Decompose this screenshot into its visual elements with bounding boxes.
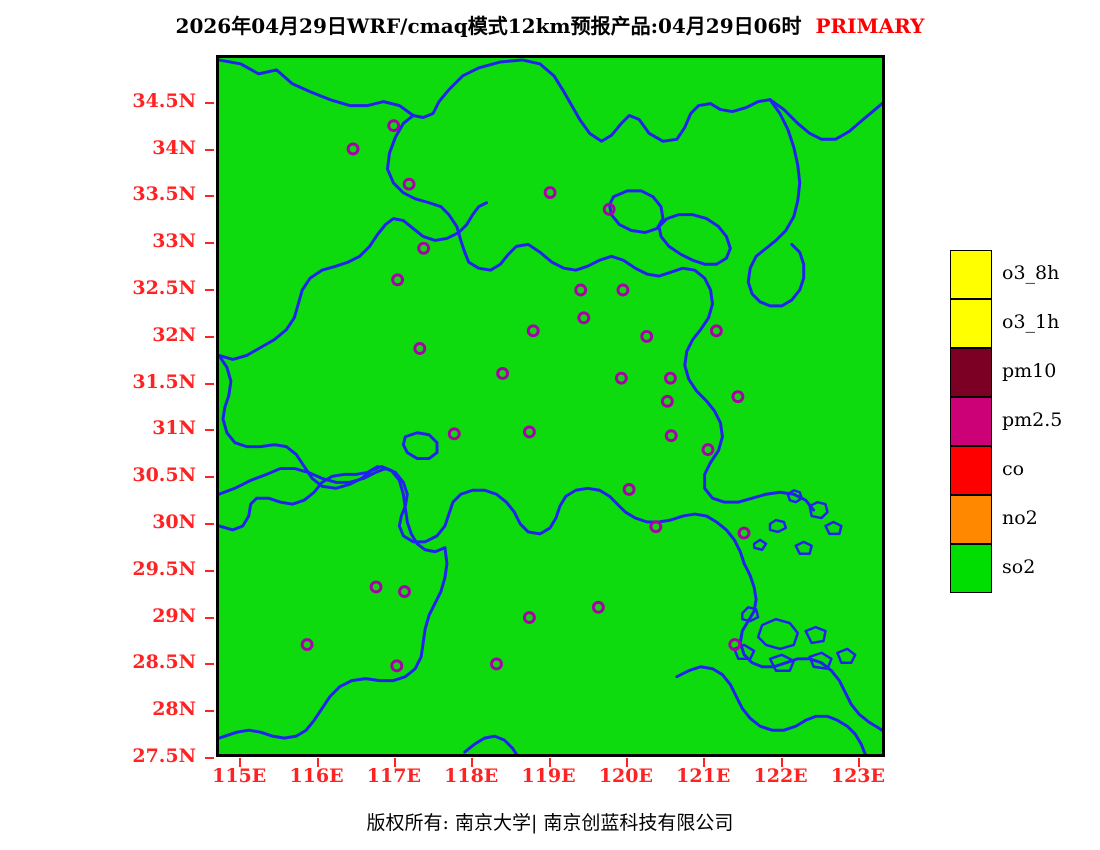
legend-label: so2 — [1002, 556, 1035, 578]
station-marker[interactable] — [730, 640, 740, 650]
longitude-tick-label: 120E — [586, 765, 666, 787]
legend-item-so2[interactable]: so2 — [950, 544, 1095, 593]
station-marker[interactable] — [348, 144, 358, 154]
longitude-tick-mark — [781, 758, 783, 767]
legend-item-co[interactable]: co — [950, 446, 1095, 495]
map-canvas[interactable] — [216, 55, 885, 757]
longitude-tick-label: 121E — [663, 765, 743, 787]
latitude-tick-mark — [205, 336, 214, 338]
longitude-tick-mark — [626, 758, 628, 767]
station-marker[interactable] — [389, 121, 399, 131]
latitude-tick-mark — [205, 710, 214, 712]
legend-item-pm2-5[interactable]: pm2.5 — [950, 397, 1095, 446]
legend-color-swatch — [950, 544, 992, 593]
station-marker[interactable] — [618, 285, 628, 295]
station-marker[interactable] — [498, 369, 508, 379]
station-marker[interactable] — [524, 613, 534, 623]
latitude-tick-mark — [205, 242, 214, 244]
longitude-tick-label: 119E — [509, 765, 589, 787]
title-main-text: 2026年04月29日WRF/cmaq模式12km预报产品:04月29日06时 — [176, 14, 802, 38]
latitude-tick-label: 32N — [106, 324, 196, 346]
station-marker[interactable] — [393, 275, 403, 285]
station-marker[interactable] — [616, 373, 626, 383]
latitude-tick-mark — [205, 383, 214, 385]
latitude-tick-mark — [205, 663, 214, 665]
latitude-tick-mark — [205, 757, 214, 759]
longitude-tick-label: 117E — [354, 765, 434, 787]
legend-label: no2 — [1002, 507, 1038, 529]
page-title: 2026年04月29日WRF/cmaq模式12km预报产品:04月29日06时P… — [0, 10, 1100, 40]
latitude-tick-mark — [205, 429, 214, 431]
legend-label: pm10 — [1002, 360, 1056, 382]
latitude-tick-label: 28.5N — [106, 651, 196, 673]
legend-color-swatch — [950, 397, 992, 446]
latitude-tick-mark — [205, 570, 214, 572]
latitude-tick-label: 31N — [106, 417, 196, 439]
latitude-tick-label: 33.5N — [106, 183, 196, 205]
legend-label: co — [1002, 458, 1024, 480]
station-marker[interactable] — [651, 522, 661, 532]
longitude-tick-mark — [317, 758, 319, 767]
station-marker[interactable] — [415, 344, 425, 354]
latitude-tick-mark — [205, 149, 214, 151]
legend-label: o3_8h — [1002, 262, 1059, 284]
station-marker-group — [302, 121, 749, 671]
map-vector-layer — [219, 58, 882, 754]
longitude-tick-mark — [471, 758, 473, 767]
latitude-tick-label: 28N — [106, 698, 196, 720]
title-primary-tag: PRIMARY — [815, 14, 924, 38]
latitude-tick-label: 31.5N — [106, 371, 196, 393]
legend-item-pm10[interactable]: pm10 — [950, 348, 1095, 397]
station-marker[interactable] — [449, 429, 459, 439]
latitude-tick-label: 29N — [106, 605, 196, 627]
station-marker[interactable] — [739, 528, 749, 538]
longitude-tick-mark — [394, 758, 396, 767]
station-marker[interactable] — [642, 331, 652, 341]
station-marker[interactable] — [733, 392, 743, 402]
legend-color-swatch — [950, 299, 992, 348]
forecast-map-page: 2026年04月29日WRF/cmaq模式12km预报产品:04月29日06时P… — [0, 0, 1100, 850]
longitude-tick-label: 123E — [818, 765, 898, 787]
legend-item-o3-8h[interactable]: o3_8h — [950, 250, 1095, 299]
legend-color-swatch — [950, 348, 992, 397]
station-marker[interactable] — [579, 313, 589, 323]
station-marker[interactable] — [371, 582, 381, 592]
latitude-tick-mark — [205, 617, 214, 619]
legend-color-swatch — [950, 446, 992, 495]
station-marker[interactable] — [492, 659, 502, 669]
latitude-tick-label: 30.5N — [106, 464, 196, 486]
latitude-tick-mark — [205, 289, 214, 291]
latitude-tick-label: 33N — [106, 230, 196, 252]
station-marker[interactable] — [392, 661, 402, 671]
station-marker[interactable] — [419, 243, 429, 253]
legend-label: o3_1h — [1002, 311, 1059, 333]
station-marker[interactable] — [404, 179, 414, 189]
longitude-tick-mark — [703, 758, 705, 767]
station-marker[interactable] — [711, 326, 721, 336]
longitude-tick-label: 116E — [277, 765, 357, 787]
latitude-tick-label: 34N — [106, 137, 196, 159]
latitude-tick-label: 29.5N — [106, 558, 196, 580]
latitude-tick-label: 30N — [106, 511, 196, 533]
station-marker[interactable] — [703, 445, 713, 455]
latitude-tick-label: 32.5N — [106, 277, 196, 299]
latitude-tick-mark — [205, 195, 214, 197]
station-marker[interactable] — [524, 427, 534, 437]
longitude-tick-mark — [858, 758, 860, 767]
latitude-tick-mark — [205, 102, 214, 104]
longitude-tick-mark — [549, 758, 551, 767]
legend-item-o3-1h[interactable]: o3_1h — [950, 299, 1095, 348]
longitude-tick-label: 115E — [199, 765, 279, 787]
pollutant-legend[interactable]: o3_8ho3_1hpm10pm2.5cono2so2 — [950, 250, 1095, 594]
legend-item-no2[interactable]: no2 — [950, 495, 1095, 544]
legend-color-swatch — [950, 250, 992, 299]
station-marker[interactable] — [662, 396, 672, 406]
station-marker[interactable] — [576, 285, 586, 295]
legend-color-swatch — [950, 495, 992, 544]
station-marker[interactable] — [302, 640, 312, 650]
station-marker[interactable] — [624, 485, 634, 495]
longitude-tick-label: 122E — [741, 765, 821, 787]
longitude-tick-mark — [239, 758, 241, 767]
longitude-tick-label: 118E — [431, 765, 511, 787]
latitude-tick-label: 34.5N — [106, 90, 196, 112]
station-marker[interactable] — [400, 587, 410, 597]
legend-label: pm2.5 — [1002, 409, 1062, 431]
latitude-tick-mark — [205, 523, 214, 525]
station-marker[interactable] — [545, 188, 555, 198]
latitude-tick-mark — [205, 476, 214, 478]
latitude-tick-label: 27.5N — [106, 745, 196, 767]
station-marker[interactable] — [593, 602, 603, 612]
station-marker[interactable] — [666, 431, 676, 441]
copyright-footer: 版权所有: 南京大学| 南京创蓝科技有限公司 — [0, 808, 1100, 835]
station-marker[interactable] — [665, 373, 675, 383]
station-marker[interactable] — [528, 326, 538, 336]
